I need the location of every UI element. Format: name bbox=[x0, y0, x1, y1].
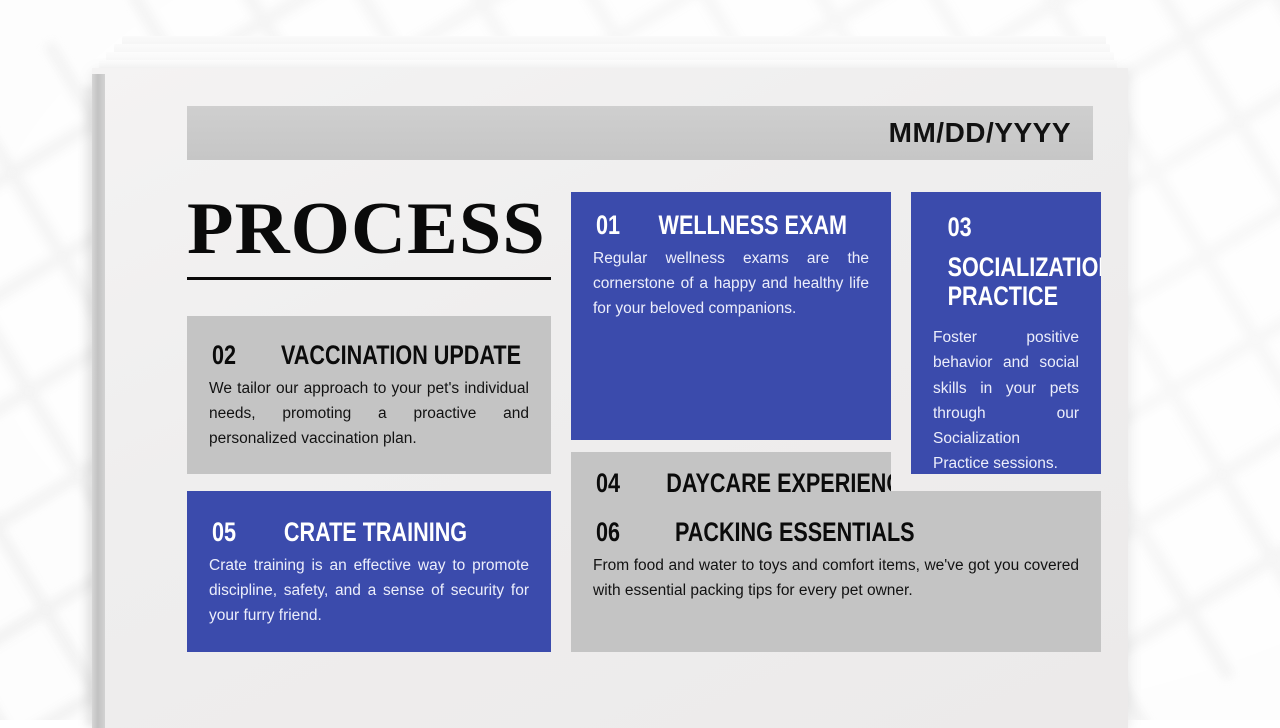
title-underline-rule bbox=[187, 277, 551, 280]
title-block: PROCESS bbox=[187, 192, 551, 304]
card-01-number: 01 bbox=[596, 212, 620, 239]
newspaper-spine bbox=[92, 74, 105, 728]
process-card-06[interactable]: 06 PACKING ESSENTIALS From food and wate… bbox=[571, 491, 1101, 652]
process-card-05[interactable]: 05 CRATE TRAINING Crate training is an e… bbox=[187, 491, 551, 652]
process-card-03[interactable]: 03 SOCIALIZATION PRACTICE Foster positiv… bbox=[911, 192, 1101, 474]
card-02-number: 02 bbox=[212, 342, 236, 369]
card-04-number: 04 bbox=[596, 470, 620, 497]
card-01-body: Regular wellness exams are the cornersto… bbox=[593, 246, 869, 321]
card-03-number: 03 bbox=[948, 214, 1065, 241]
card-05-body: Crate training is an effective way to pr… bbox=[209, 553, 529, 628]
process-grid: PROCESS 01 WELLNESS EXAM Regular wellnes… bbox=[187, 192, 1093, 652]
card-03-title: SOCIALIZATION PRACTICE bbox=[948, 253, 1065, 311]
card-01-heading: 01 WELLNESS EXAM bbox=[593, 212, 869, 239]
process-card-01[interactable]: 01 WELLNESS EXAM Regular wellness exams … bbox=[571, 192, 891, 440]
card-02-body: We tailor our approach to your pet's ind… bbox=[209, 376, 529, 451]
card-05-heading: 05 CRATE TRAINING bbox=[209, 519, 529, 546]
card-02-heading: 02 VACCINATION UPDATE bbox=[209, 342, 529, 369]
date-bar: MM/DD/YYYY bbox=[187, 106, 1093, 160]
card-06-number: 06 bbox=[596, 519, 620, 546]
card-02-title: VACCINATION UPDATE bbox=[281, 342, 521, 369]
card-03-body: Foster positive behavior and social skil… bbox=[933, 325, 1079, 474]
card-05-number: 05 bbox=[212, 519, 236, 546]
date-text: MM/DD/YYYY bbox=[889, 117, 1071, 149]
process-card-02[interactable]: 02 VACCINATION UPDATE We tailor our appr… bbox=[187, 316, 551, 474]
card-03-heading: 03 SOCIALIZATION PRACTICE bbox=[933, 214, 1079, 311]
page-content: MM/DD/YYYY PROCESS 01 WELLNESS EXAM Regu… bbox=[187, 106, 1093, 652]
card-06-heading: 06 PACKING ESSENTIALS bbox=[593, 519, 1079, 546]
card-06-body: From food and water to toys and comfort … bbox=[593, 553, 1079, 603]
card-04-title: DAYCARE EXPERIENCE bbox=[666, 470, 891, 497]
page-title: PROCESS bbox=[187, 194, 562, 265]
card-01-title: WELLNESS EXAM bbox=[659, 212, 847, 239]
card-06-title: PACKING ESSENTIALS bbox=[675, 519, 915, 546]
card-05-title: CRATE TRAINING bbox=[284, 519, 467, 546]
